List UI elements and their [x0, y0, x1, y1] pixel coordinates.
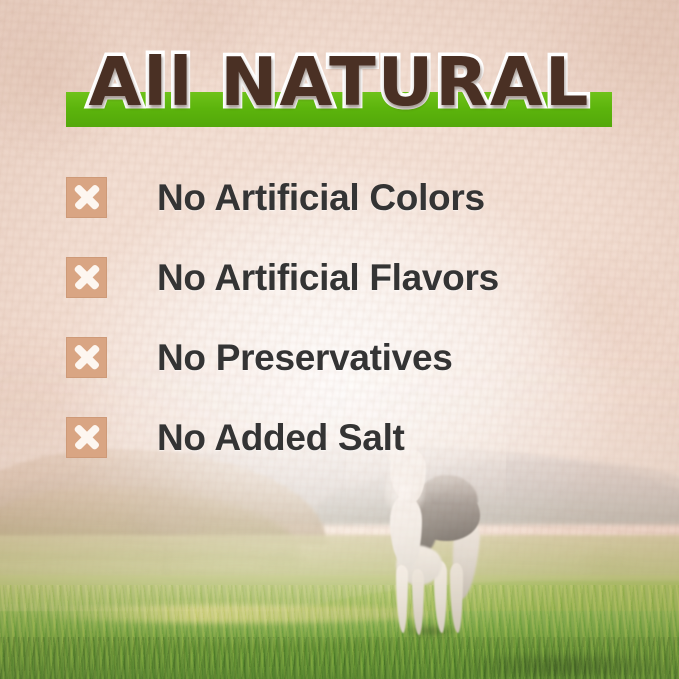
x-mark-icon: [66, 417, 107, 458]
claim-label: No Added Salt: [157, 417, 405, 458]
list-item: No Artificial Flavors: [66, 256, 626, 298]
x-mark-icon: [66, 257, 107, 298]
claim-label: No Artificial Flavors: [157, 257, 499, 298]
claims-list: No Artificial Colors No Artificial Flavo…: [66, 176, 626, 496]
claim-label: No Preservatives: [157, 337, 453, 378]
x-mark-icon: [66, 177, 107, 218]
page-title: All NATURAL: [0, 46, 679, 118]
x-mark-icon: [66, 337, 107, 378]
list-item: No Artificial Colors: [66, 176, 626, 218]
claim-label: No Artificial Colors: [157, 177, 485, 218]
grass-blade-texture-2: [0, 637, 679, 679]
all-natural-product-poster: All NATURAL No Artificial Colors No Arti…: [0, 0, 679, 679]
list-item: No Added Salt: [66, 416, 626, 458]
list-item: No Preservatives: [66, 336, 626, 378]
